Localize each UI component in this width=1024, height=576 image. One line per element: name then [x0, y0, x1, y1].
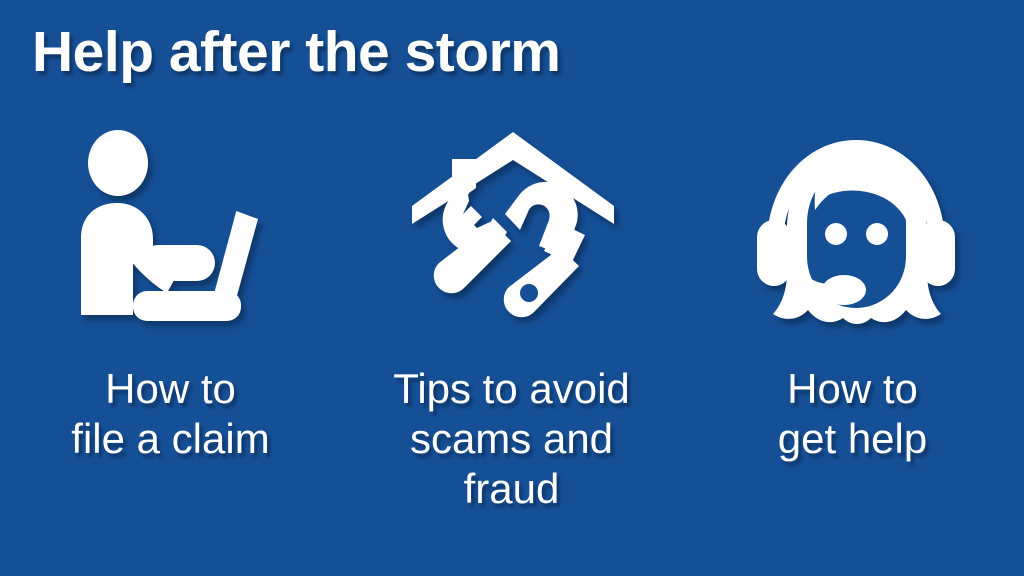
feature-column-scams-and-fraud[interactable]: Tips to avoid scams and fraud: [341, 130, 682, 514]
feature-column-file-a-claim[interactable]: How to file a claim: [0, 130, 341, 464]
feature-columns: How to file a claim: [0, 130, 1024, 514]
page-title: Help after the storm: [32, 20, 560, 86]
feature-caption: Tips to avoid scams and fraud: [393, 364, 630, 514]
person-at-laptop-icon: [61, 133, 271, 333]
feature-caption: How to get help: [778, 364, 927, 464]
headset-support-agent-icon: [751, 132, 961, 332]
feature-caption: How to file a claim: [71, 364, 269, 464]
house-roof-with-tools-icon: [408, 130, 618, 330]
slide-canvas: Help after the storm: [0, 0, 1024, 576]
feature-column-get-help[interactable]: How to get help: [682, 130, 1023, 464]
